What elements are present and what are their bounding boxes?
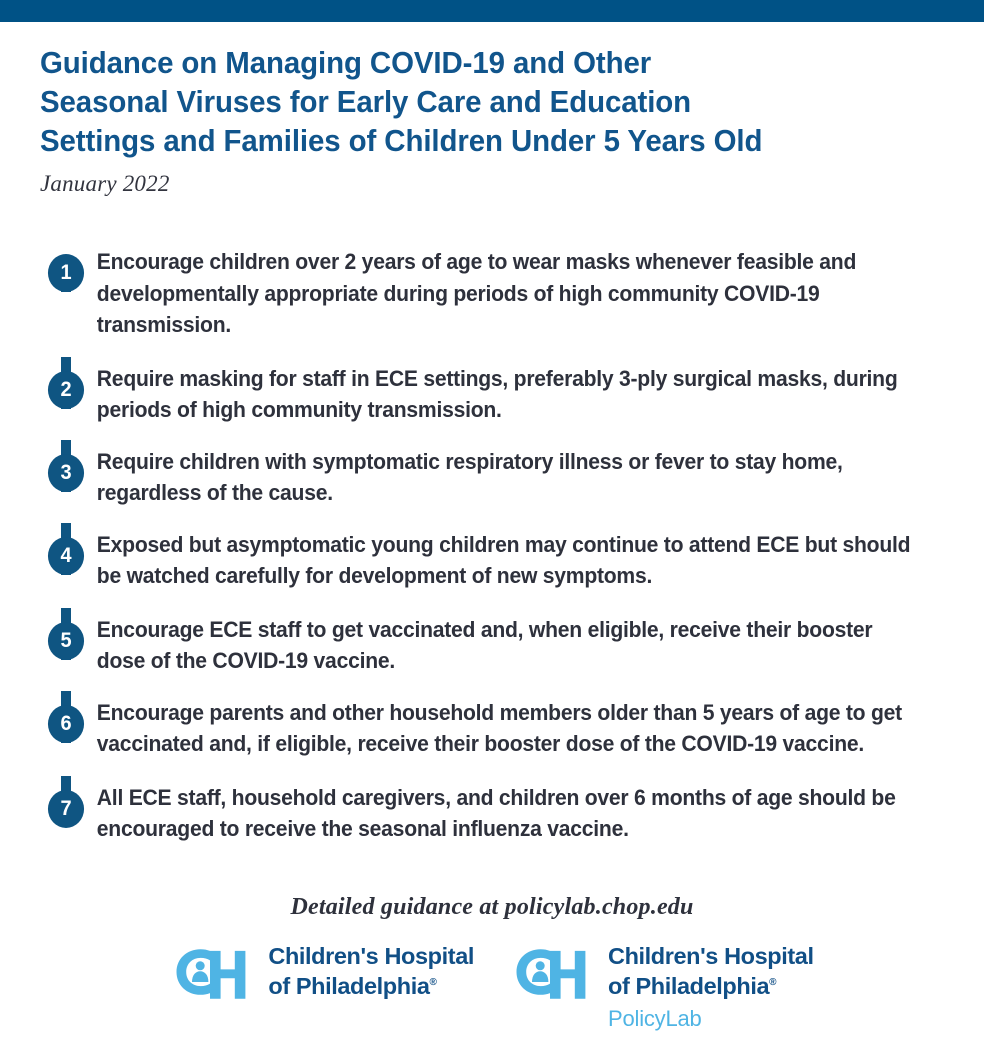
recommendation-text: Exposed but asymptomatic young children … <box>92 523 912 608</box>
list-item: 4 Exposed but asymptomatic young childre… <box>40 523 946 608</box>
page-title-line-3: Settings and Families of Children Under … <box>40 122 914 161</box>
recommendation-text: Require children with symptomatic respir… <box>92 440 912 523</box>
timeline-marker-column: 7 <box>40 776 92 828</box>
step-number-badge: 1 <box>48 254 84 292</box>
timeline-marker-column: 4 <box>40 523 92 575</box>
chop-ch-monogram-icon <box>510 945 596 1008</box>
step-number-badge: 3 <box>48 454 84 492</box>
recommendation-text: Encourage children over 2 years of age t… <box>92 240 912 357</box>
timeline-marker-column: 1 <box>40 240 92 292</box>
registered-trademark-icon: ® <box>430 977 437 988</box>
step-number-badge: 2 <box>48 371 84 409</box>
recommendation-timeline: 1 Encourage children over 2 years of age… <box>40 240 946 845</box>
step-number-badge: 6 <box>48 705 84 743</box>
chop-wordmark: Children's Hospital of Philadelphia® <box>256 943 474 999</box>
header: Guidance on Managing COVID-19 and Other … <box>40 44 946 197</box>
chop-wordmark-line-2: of Philadelphia® <box>268 970 474 999</box>
chop-wordmark-line-1: Children's Hospital <box>268 943 474 970</box>
recommendation-text: Encourage ECE staff to get vaccinated an… <box>92 608 912 691</box>
top-accent-bar <box>0 0 984 22</box>
footer: Detailed guidance at policylab.chop.edu <box>0 893 984 1031</box>
list-item: 2 Require masking for staff in ECE setti… <box>40 357 946 440</box>
step-number-badge: 7 <box>48 790 84 828</box>
timeline-marker-column: 2 <box>40 357 92 409</box>
chop-wordmark-line-2: of Philadelphia® <box>608 970 814 999</box>
timeline-marker-column: 5 <box>40 608 92 660</box>
chop-logo: Children's Hospital of Philadelphia® <box>170 943 474 1008</box>
registered-trademark-icon: ® <box>769 977 776 988</box>
recommendation-text: Encourage parents and other household me… <box>92 691 912 776</box>
timeline-marker-column: 6 <box>40 691 92 743</box>
step-number-badge: 5 <box>48 622 84 660</box>
step-number-badge: 4 <box>48 537 84 575</box>
page-title-line-2: Seasonal Viruses for Early Care and Educ… <box>40 83 914 122</box>
page-title-line-1: Guidance on Managing COVID-19 and Other <box>40 44 914 83</box>
list-item: 5 Encourage ECE staff to get vaccinated … <box>40 608 946 691</box>
chop-wordmark-line-1: Children's Hospital <box>608 943 814 970</box>
detailed-guidance-note: Detailed guidance at policylab.chop.edu <box>0 893 984 921</box>
chop-ch-monogram-icon <box>170 945 256 1008</box>
timeline-marker-column: 3 <box>40 440 92 492</box>
recommendation-text: Require masking for staff in ECE setting… <box>92 357 912 440</box>
publication-date: January 2022 <box>40 171 946 197</box>
policylab-sublabel: PolicyLab <box>608 1007 814 1031</box>
list-item: 3 Require children with symptomatic resp… <box>40 440 946 523</box>
chop-policylab-wordmark: Children's Hospital of Philadelphia® Pol… <box>596 943 814 1031</box>
logo-strip: Children's Hospital of Philadelphia® Chi… <box>0 943 984 1031</box>
recommendation-text: All ECE staff, household caregivers, and… <box>92 776 912 845</box>
list-item: 6 Encourage parents and other household … <box>40 691 946 776</box>
list-item: 7 All ECE staff, household caregivers, a… <box>40 776 946 845</box>
chop-policylab-logo: Children's Hospital of Philadelphia® Pol… <box>510 943 814 1031</box>
list-item: 1 Encourage children over 2 years of age… <box>40 240 946 357</box>
page-title: Guidance on Managing COVID-19 and Other … <box>40 44 914 161</box>
